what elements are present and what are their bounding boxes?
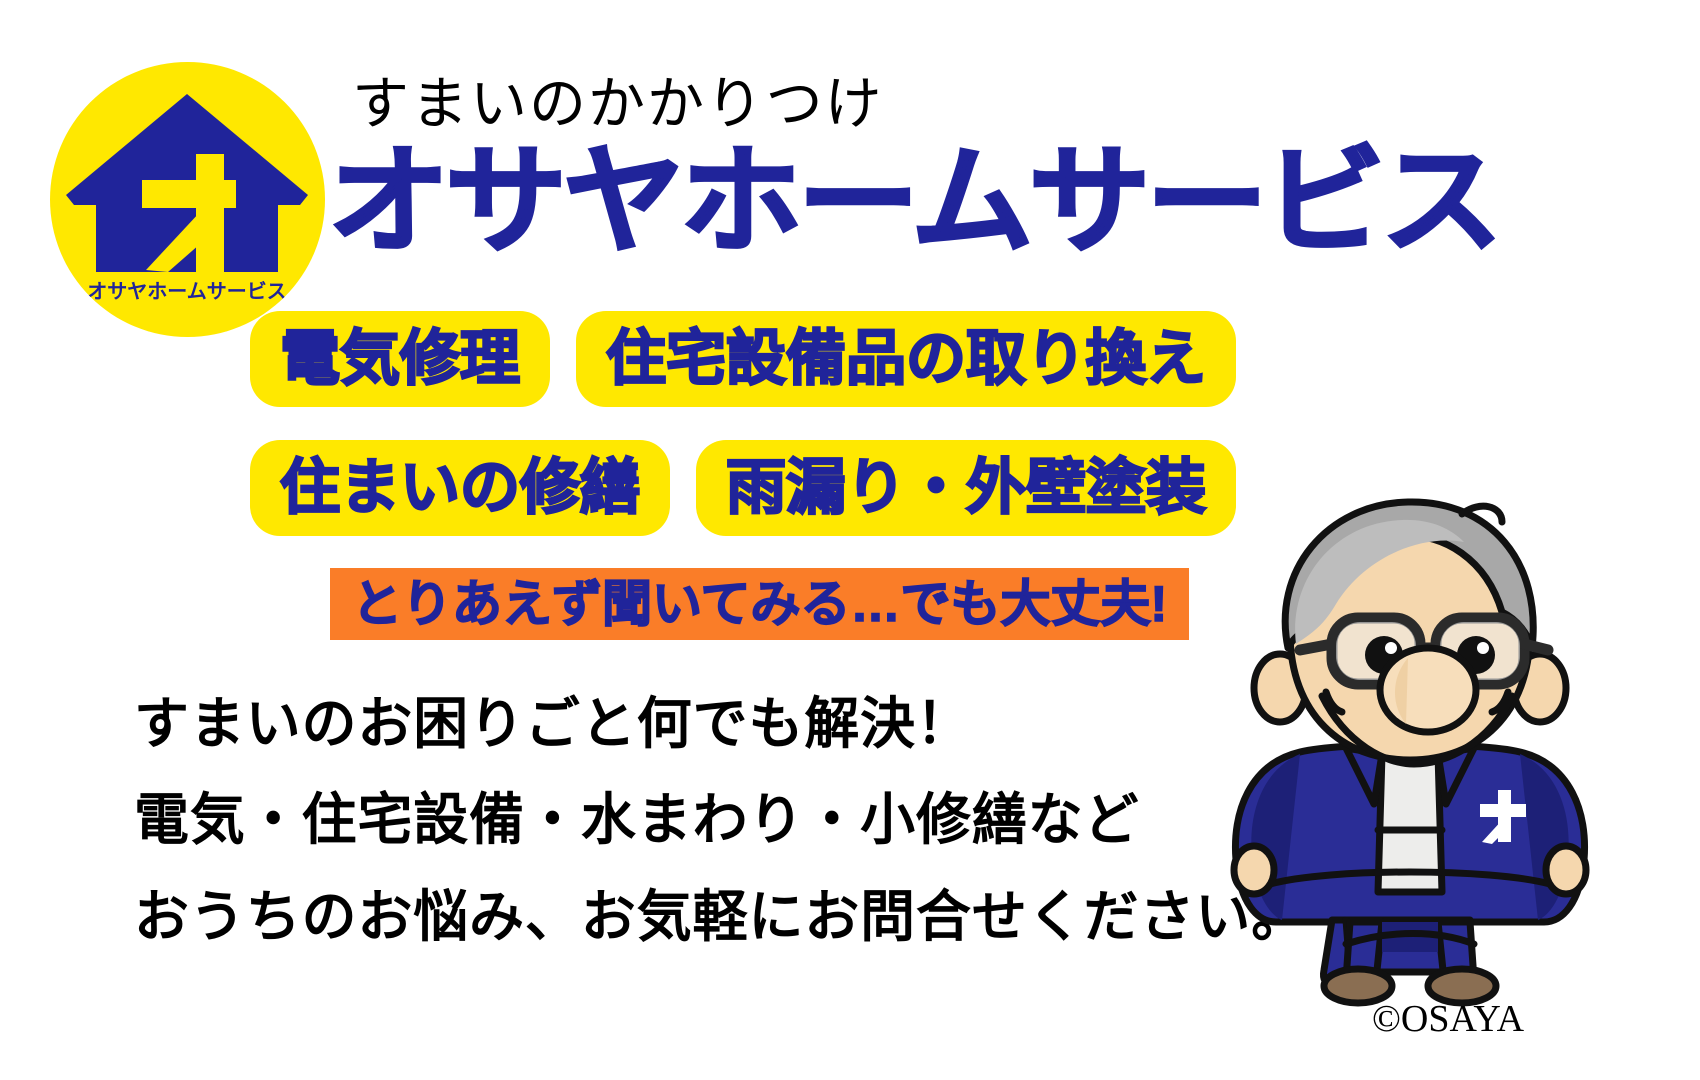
service-pill-electric-repair[interactable]: 電気修理: [250, 311, 550, 407]
logo-caption: オサヤホームサービス: [87, 280, 286, 303]
body-copy: すまいのお困りごと何でも解決！ 電気・住宅設備・水まわり・小修繕など おうちのお…: [134, 676, 1307, 965]
logo-house-icon: オサヤホームサービス: [50, 62, 325, 337]
tagline: すまいのかかりつけ: [352, 76, 884, 133]
service-pill-equipment-replacement[interactable]: 住宅設備品の取り換え: [576, 311, 1236, 407]
mascot-elderly-handyman-icon: [1150, 452, 1670, 1012]
copyright-notice: ©OSAYA: [1372, 1000, 1524, 1038]
poster-canvas: オサヤホームサービス すまいのかかりつけ オサヤホームサービス 電気修理 住宅設…: [0, 0, 1700, 1080]
body-copy-line-2: 電気・住宅設備・水まわり・小修繕など: [134, 772, 1307, 868]
company-logo: オサヤホームサービス: [50, 62, 325, 337]
body-copy-line-1: すまいのお困りごと何でも解決！: [134, 676, 1307, 772]
brand-title: オサヤホームサービス: [328, 140, 1499, 265]
service-pill-home-repair[interactable]: 住まいの修繕: [250, 440, 670, 536]
body-copy-line-3: おうちのお悩み、お気軽にお問合せください。: [134, 869, 1307, 965]
mascot-illustration: [1150, 452, 1670, 1012]
callout-banner: とりあえず聞いてみる…でも大丈夫!: [330, 568, 1189, 640]
service-pill-row-2: 住まいの修繕 雨漏り・外壁塗装: [250, 440, 1236, 536]
callout-banner-text: とりあえず聞いてみる…でも大丈夫!: [352, 579, 1167, 629]
service-pill-row-1: 電気修理 住宅設備品の取り換え: [250, 311, 1236, 407]
